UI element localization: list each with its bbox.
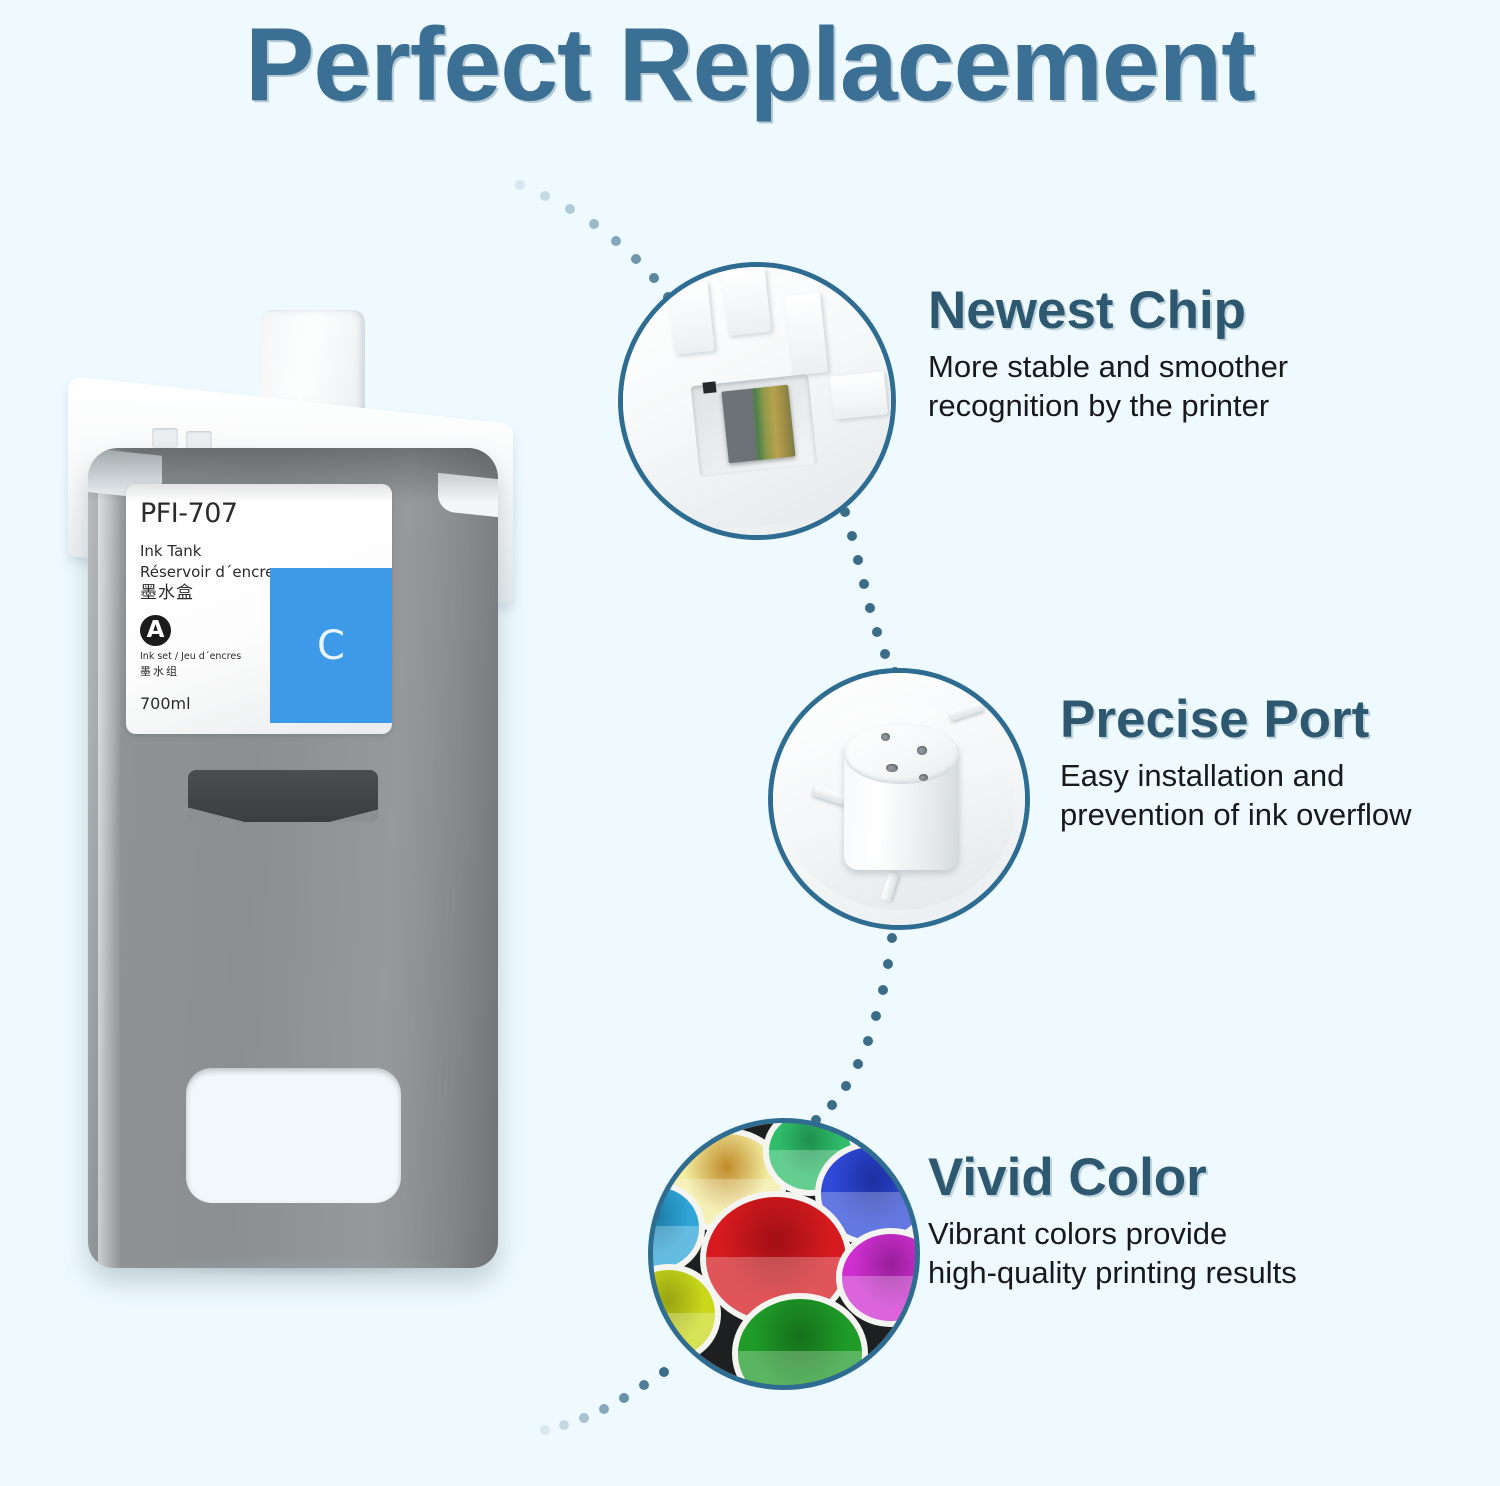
feature-image-newest-chip <box>618 262 896 540</box>
paint-cans-photo <box>653 1123 915 1385</box>
feature-title-newest-chip: Newest Chip <box>928 283 1288 339</box>
port-vane <box>949 701 986 721</box>
chip-tab <box>668 281 715 354</box>
cartridge-shadow <box>130 1255 460 1277</box>
feature-desc-newest-chip: More stable and smoother recognition by … <box>928 347 1288 426</box>
cartridge-label: PFI-707 Ink Tank Réservoir d´encre 墨水盒 A… <box>126 484 392 734</box>
cartridge-slot <box>188 770 378 822</box>
feature-title-vivid-color: Vivid Color <box>928 1150 1297 1206</box>
feature-image-vivid-color <box>648 1118 920 1390</box>
feature-desc-vivid-color: Vibrant colors provide high-quality prin… <box>928 1214 1297 1293</box>
cartridge-shoulder-cut-right <box>438 473 498 517</box>
feature-desc-precise-port: Easy installation and prevention of ink … <box>1060 756 1412 835</box>
feature-image-precise-port <box>768 668 1030 930</box>
label-color-code: C <box>270 568 392 723</box>
feature-text-vivid-color: Vivid Color Vibrant colors provide high-… <box>928 1150 1297 1293</box>
feature-title-precise-port: Precise Port <box>1060 692 1412 748</box>
label-line-english: Ink Tank <box>140 541 392 562</box>
chip-tab <box>830 372 888 420</box>
feature-text-precise-port: Precise Port Easy installation and preve… <box>1060 692 1412 835</box>
chip-contact-pin <box>703 382 717 394</box>
feature-text-newest-chip: Newest Chip More stable and smoother rec… <box>928 283 1288 426</box>
chip-tab <box>722 268 771 336</box>
cartridge-body: PFI-707 Ink Tank Réservoir d´encre 墨水盒 A… <box>88 448 498 1268</box>
port-cylinder-top <box>844 723 960 783</box>
page-title: Perfect Replacement <box>0 6 1500 125</box>
port-hole <box>917 746 928 755</box>
ink-set-badge-icon: A <box>140 615 171 646</box>
ink-cartridge-image: PFI-707 Ink Tank Réservoir d´encre 墨水盒 A… <box>60 300 540 1300</box>
cap-notch-left <box>152 428 178 448</box>
chip-closeup-photo <box>623 267 891 535</box>
cartridge-handle-opening <box>186 1068 401 1203</box>
label-model-number: PFI-707 <box>140 498 392 529</box>
chip-die <box>721 384 795 463</box>
connector-port-to-color <box>811 933 897 1125</box>
port-hole <box>919 774 928 781</box>
port-closeup-photo <box>773 673 1025 925</box>
cartridge-shoulder-cut-left <box>88 448 162 500</box>
connector-color-tail <box>540 1367 669 1435</box>
